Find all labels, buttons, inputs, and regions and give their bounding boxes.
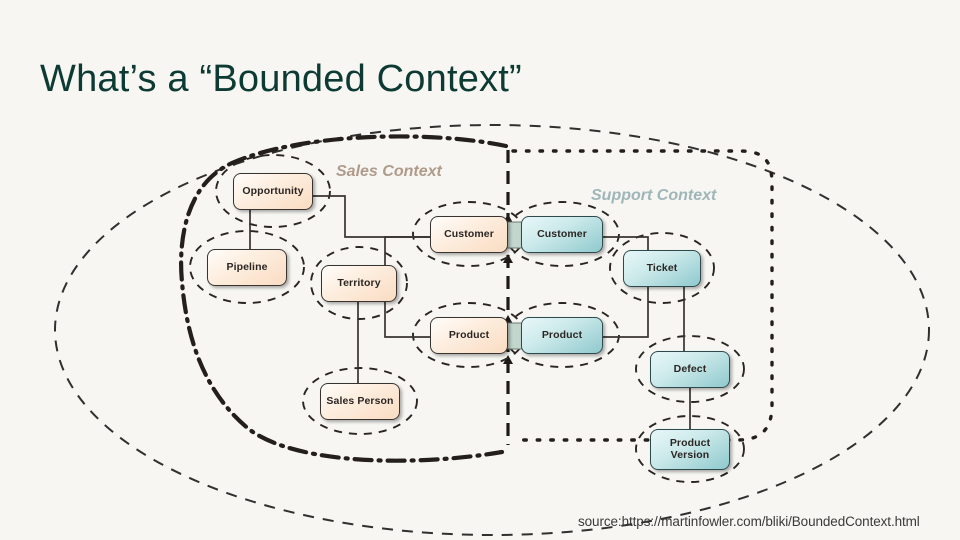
bounded-context-diagram: [0, 0, 960, 540]
entity-node-sales-person[interactable]: Sales Person: [320, 383, 400, 420]
slide-canvas: What’s a “Bounded Context”: [0, 0, 960, 540]
source-note: source:https://martinfowler.com/bliki/Bo…: [578, 514, 920, 529]
entity-node-label: Product: [449, 330, 489, 342]
edge-territory-product: [385, 302, 430, 337]
entity-node-product-version[interactable]: ProductVersion: [650, 429, 730, 470]
entity-node-territory[interactable]: Territory: [321, 265, 397, 302]
edge-product-ticket: [603, 287, 648, 337]
entity-node-label: Ticket: [647, 263, 678, 275]
entity-node-customer-supp[interactable]: Customer: [521, 216, 603, 253]
entity-node-product-sales[interactable]: Product: [430, 317, 508, 354]
entity-node-label: Opportunity: [242, 186, 303, 198]
entity-node-defect[interactable]: Defect: [650, 351, 730, 388]
entity-node-label: Sales Person: [326, 396, 393, 408]
entity-node-label: Customer: [537, 229, 587, 241]
edge-opportunity-customer: [313, 196, 430, 237]
entity-node-pipeline[interactable]: Pipeline: [207, 249, 287, 286]
support-context-label: Support Context: [591, 187, 716, 205]
entity-node-ticket[interactable]: Ticket: [623, 250, 701, 287]
entity-node-label: ProductVersion: [670, 438, 710, 462]
entity-node-product-supp[interactable]: Product: [521, 317, 603, 354]
entity-node-label: Customer: [444, 229, 494, 241]
entity-node-label: Product: [542, 330, 582, 342]
entity-node-label: Territory: [337, 278, 380, 290]
entity-node-opportunity[interactable]: Opportunity: [233, 173, 313, 210]
sales-context-label: Sales Context: [336, 163, 442, 181]
entity-node-label: Defect: [674, 364, 707, 376]
entity-node-label: Pipeline: [226, 262, 267, 274]
edge-territory-customer: [385, 237, 430, 265]
entity-node-customer-sales[interactable]: Customer: [430, 216, 508, 253]
